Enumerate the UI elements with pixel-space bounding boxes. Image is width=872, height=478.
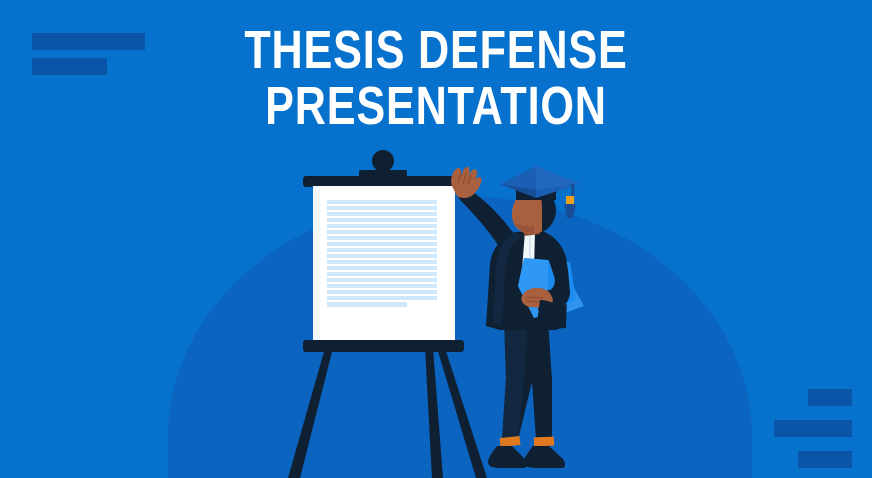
raised-hand — [451, 167, 481, 198]
easel-legs — [288, 348, 487, 478]
slide-canvas: THESIS DEFENSE PRESENTATION — [0, 0, 872, 478]
slide-title: THESIS DEFENSE PRESENTATION — [0, 22, 872, 134]
ankle-accents — [500, 436, 555, 447]
slide-title-line-1: THESIS DEFENSE — [87, 22, 785, 78]
shoes — [488, 446, 565, 468]
legs-trousers — [502, 320, 552, 440]
easel-clamp — [303, 150, 464, 187]
graduate-student-figure — [451, 166, 584, 468]
easel-base-bar — [303, 340, 464, 352]
slide-title-line-2: PRESENTATION — [87, 78, 785, 134]
